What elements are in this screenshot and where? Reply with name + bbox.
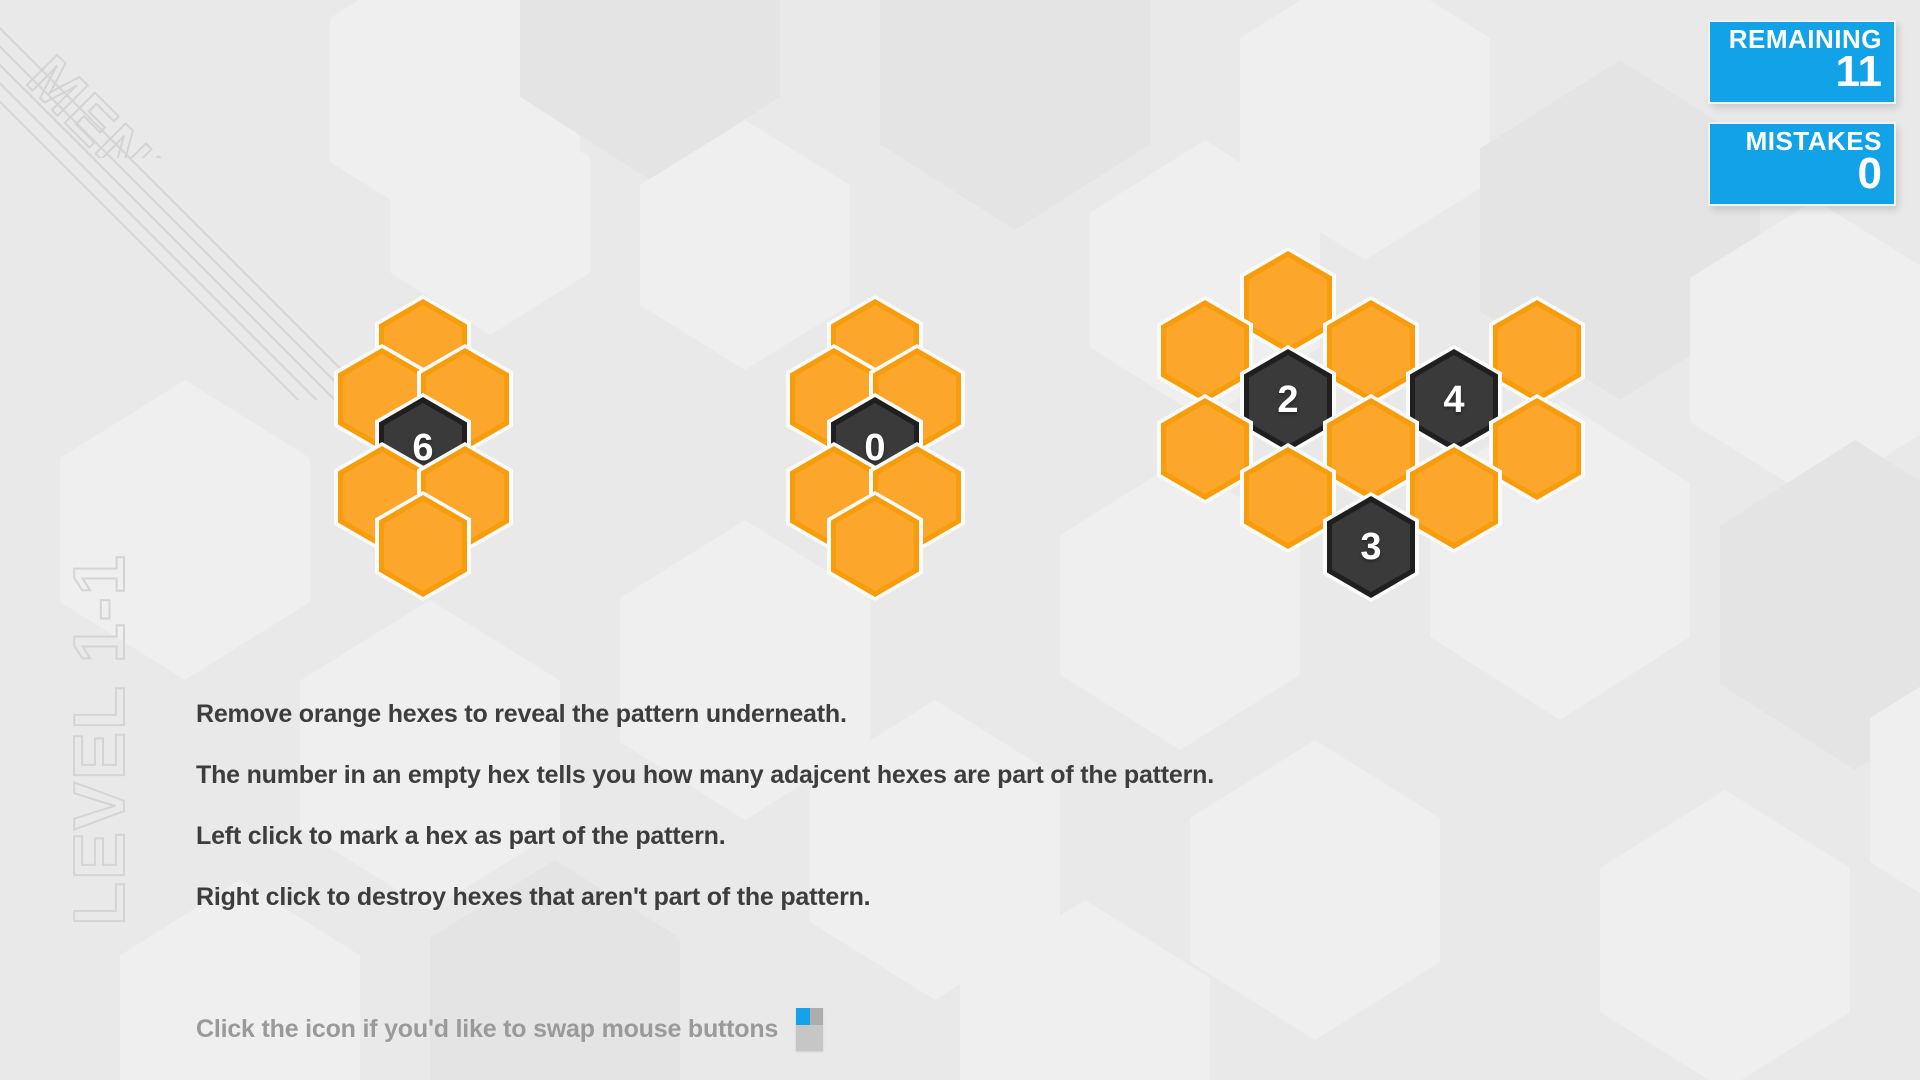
hex-cell-orange[interactable] bbox=[1406, 443, 1502, 553]
hex-number: 0 bbox=[827, 393, 923, 503]
instruction-line: Left click to mark a hex as part of the … bbox=[196, 822, 1346, 851]
hex-cell-orange[interactable] bbox=[1157, 394, 1253, 504]
hex-number: 6 bbox=[375, 393, 471, 503]
hex-cell-orange[interactable] bbox=[1489, 394, 1585, 504]
mouse-right-button bbox=[810, 1008, 824, 1025]
game-screen: MENU LEVEL 1-1 REMAINING 11 MISTAKES 0 6… bbox=[0, 0, 1920, 1080]
instruction-line: Right click to destroy hexes that aren't… bbox=[196, 883, 1346, 912]
hex-cell-revealed[interactable]: 2 bbox=[1240, 345, 1336, 455]
hex-cell-orange[interactable] bbox=[1157, 296, 1253, 406]
instructions-block: Remove orange hexes to reveal the patter… bbox=[196, 700, 1346, 944]
hex-cell-orange[interactable] bbox=[1323, 394, 1419, 504]
hex-cell-revealed[interactable]: 6 bbox=[375, 393, 471, 503]
hex-cell-revealed[interactable]: 0 bbox=[827, 393, 923, 503]
hex-cell-revealed[interactable]: 4 bbox=[1406, 345, 1502, 455]
hex-cell-revealed[interactable]: 3 bbox=[1323, 492, 1419, 602]
hex-cell-orange[interactable] bbox=[1323, 296, 1419, 406]
swap-mouse-buttons-label: Click the icon if you'd like to swap mou… bbox=[196, 1015, 778, 1044]
instruction-line: The number in an empty hex tells you how… bbox=[196, 761, 1346, 790]
hex-number: 2 bbox=[1240, 345, 1336, 455]
mouse-icon[interactable] bbox=[796, 1008, 823, 1051]
hex-number: 3 bbox=[1323, 492, 1419, 602]
hex-cell-orange[interactable] bbox=[1240, 443, 1336, 553]
hex-number: 4 bbox=[1406, 345, 1502, 455]
hex-cell-orange[interactable] bbox=[1240, 247, 1336, 357]
swap-mouse-buttons-row[interactable]: Click the icon if you'd like to swap mou… bbox=[196, 1008, 823, 1051]
mouse-left-button bbox=[796, 1008, 810, 1025]
instruction-line: Remove orange hexes to reveal the patter… bbox=[196, 700, 1346, 729]
mouse-body bbox=[796, 1025, 823, 1051]
hex-cell-orange[interactable] bbox=[1489, 296, 1585, 406]
